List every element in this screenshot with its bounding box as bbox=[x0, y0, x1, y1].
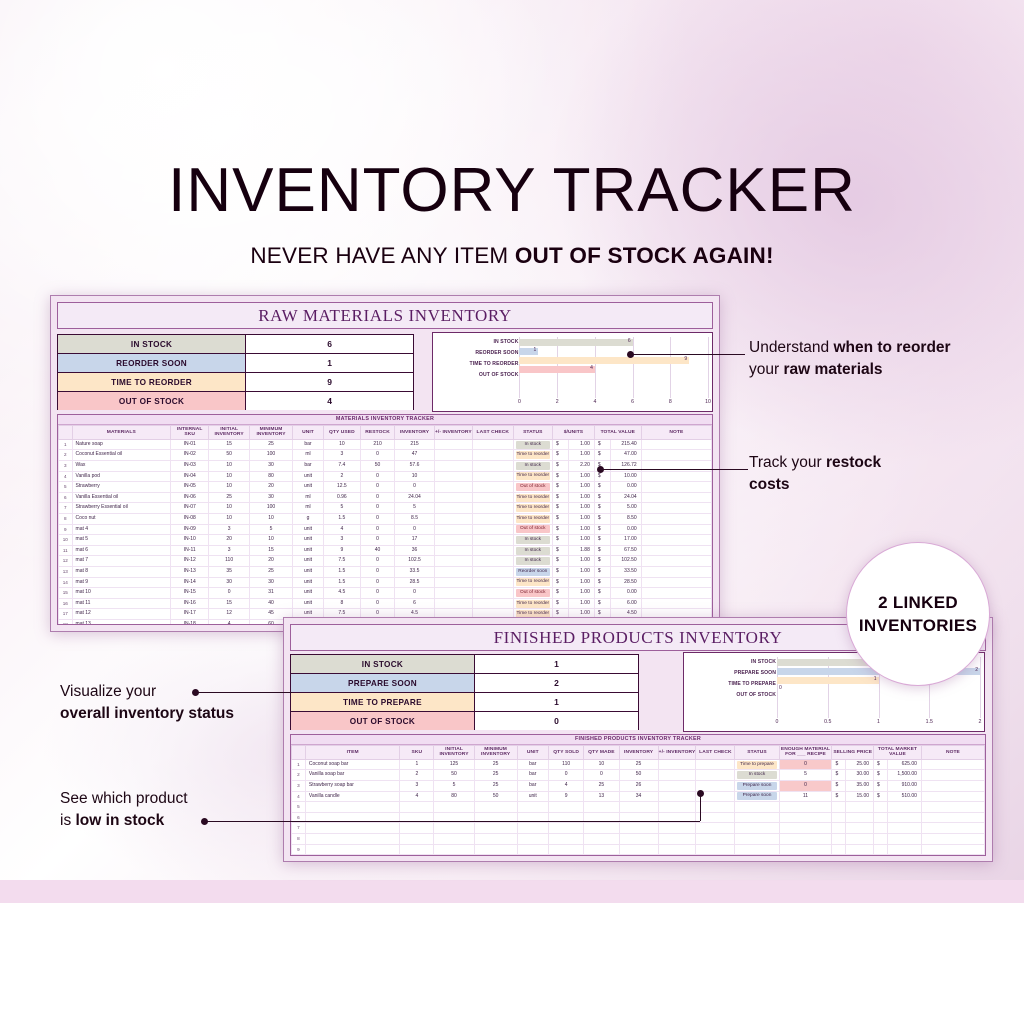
table-cell[interactable]: 25 bbox=[584, 781, 619, 792]
table-cell[interactable] bbox=[305, 833, 400, 844]
materials-table-body[interactable]: 1Nature soapIN-011525bar10210215In stock… bbox=[59, 439, 712, 625]
materials-table[interactable]: MATERIALSINTERNAL SKUINITIAL INVENTORYMI… bbox=[58, 425, 712, 625]
table-cell[interactable]: 15 bbox=[249, 545, 292, 556]
table-cell[interactable]: 10 bbox=[59, 535, 73, 546]
table-cell[interactable] bbox=[434, 588, 472, 599]
table-cell[interactable] bbox=[696, 770, 735, 781]
table-cell[interactable]: mat 6 bbox=[72, 545, 171, 556]
table-cell[interactable] bbox=[434, 566, 472, 577]
table-cell[interactable]: 1.00 bbox=[569, 471, 595, 482]
table-cell[interactable]: 15 bbox=[209, 439, 250, 450]
table-cell[interactable]: 1.5 bbox=[323, 566, 360, 577]
table-cell[interactable] bbox=[434, 471, 472, 482]
table-cell[interactable]: 3 bbox=[209, 524, 250, 535]
table-cell[interactable]: 9 bbox=[549, 791, 584, 802]
table-cell[interactable] bbox=[846, 823, 874, 834]
table-cell[interactable] bbox=[434, 482, 472, 493]
table-cell[interactable]: $ bbox=[553, 461, 569, 472]
table-cell[interactable]: IN-17 bbox=[171, 609, 209, 620]
table-cell[interactable]: $ bbox=[553, 535, 569, 546]
table-cell[interactable] bbox=[517, 823, 549, 834]
table-cell[interactable] bbox=[472, 566, 513, 577]
table-cell[interactable] bbox=[779, 844, 832, 855]
table-cell[interactable]: unit bbox=[293, 566, 324, 577]
table-cell[interactable]: 1.00 bbox=[569, 513, 595, 524]
table-cell[interactable] bbox=[779, 833, 832, 844]
table-cell[interactable]: IN-02 bbox=[171, 450, 209, 461]
table-cell[interactable] bbox=[641, 524, 711, 535]
table-cell[interactable]: ml bbox=[293, 503, 324, 514]
table-cell[interactable]: 0.00 bbox=[610, 524, 641, 535]
table-row[interactable]: 4Vanilla podIN-041080unit2010Time to reo… bbox=[59, 471, 712, 482]
table-cell[interactable] bbox=[921, 823, 984, 834]
status-badge[interactable]: Reorder soon bbox=[513, 566, 552, 577]
table-cell[interactable] bbox=[921, 770, 984, 781]
table-cell[interactable] bbox=[921, 781, 984, 792]
table-cell[interactable] bbox=[472, 598, 513, 609]
table-cell[interactable]: 12 bbox=[209, 609, 250, 620]
table-cell[interactable]: unit bbox=[517, 791, 549, 802]
table-cell[interactable]: $ bbox=[832, 770, 846, 781]
table-cell[interactable]: $ bbox=[553, 482, 569, 493]
table-cell[interactable]: 8 bbox=[323, 598, 360, 609]
table-cell[interactable]: 1.00 bbox=[569, 598, 595, 609]
table-cell[interactable] bbox=[472, 471, 513, 482]
table-cell[interactable]: IN-16 bbox=[171, 598, 209, 609]
table-cell[interactable]: Coco nut bbox=[72, 513, 171, 524]
status-badge[interactable]: Time to reorder bbox=[513, 492, 552, 503]
table-cell[interactable]: 10 bbox=[209, 471, 250, 482]
table-cell[interactable]: 0 bbox=[360, 492, 394, 503]
table-cell[interactable]: 0 bbox=[395, 482, 434, 493]
table-cell[interactable]: 12 bbox=[59, 556, 73, 567]
table-cell[interactable] bbox=[472, 577, 513, 588]
table-cell[interactable]: $ bbox=[832, 759, 846, 770]
table-row[interactable]: 6Vanilla Essential oilIN-062530ml0.96024… bbox=[59, 492, 712, 503]
table-cell[interactable]: bar bbox=[293, 461, 324, 472]
table-cell[interactable] bbox=[658, 791, 696, 802]
table-cell[interactable]: 17.00 bbox=[610, 535, 641, 546]
table-cell[interactable] bbox=[921, 802, 984, 813]
status-badge[interactable]: Time to reorder bbox=[513, 598, 552, 609]
table-cell[interactable]: 0 bbox=[395, 524, 434, 535]
table-cell[interactable]: 102.5 bbox=[395, 556, 434, 567]
table-cell[interactable] bbox=[517, 844, 549, 855]
table-cell[interactable]: bar bbox=[517, 781, 549, 792]
table-cell[interactable]: 33.50 bbox=[610, 566, 641, 577]
table-cell[interactable]: 125 bbox=[434, 759, 474, 770]
table-cell[interactable]: 0 bbox=[360, 588, 394, 599]
table-cell[interactable]: unit bbox=[293, 482, 324, 493]
table-cell[interactable]: $ bbox=[594, 471, 610, 482]
table-row[interactable]: 13mat 8IN-133525unit1.5033.5Reorder soon… bbox=[59, 566, 712, 577]
table-cell[interactable]: 17 bbox=[59, 609, 73, 620]
table-cell[interactable] bbox=[696, 759, 735, 770]
table-cell[interactable] bbox=[472, 450, 513, 461]
table-cell[interactable]: 1.00 bbox=[569, 524, 595, 535]
table-cell[interactable]: 20 bbox=[249, 556, 292, 567]
table-cell[interactable] bbox=[641, 482, 711, 493]
table-cell[interactable]: 50 bbox=[209, 450, 250, 461]
table-cell[interactable]: 7.4 bbox=[323, 461, 360, 472]
status-badge[interactable]: In stock bbox=[513, 439, 552, 450]
status-badge[interactable]: Time to reorder bbox=[513, 513, 552, 524]
table-cell[interactable]: 5 bbox=[434, 781, 474, 792]
table-cell[interactable] bbox=[921, 812, 984, 823]
table-cell[interactable] bbox=[921, 759, 984, 770]
table-cell[interactable] bbox=[434, 492, 472, 503]
table-cell[interactable]: IN-07 bbox=[171, 503, 209, 514]
table-cell[interactable]: 910.00 bbox=[887, 781, 921, 792]
table-cell[interactable] bbox=[434, 577, 472, 588]
table-cell[interactable]: 0 bbox=[549, 770, 584, 781]
table-cell[interactable]: 10 bbox=[209, 503, 250, 514]
table-cell[interactable]: $ bbox=[553, 503, 569, 514]
table-cell[interactable] bbox=[584, 802, 619, 813]
table-cell[interactable] bbox=[832, 823, 846, 834]
table-cell[interactable] bbox=[779, 812, 832, 823]
table-cell[interactable]: mat 10 bbox=[72, 588, 171, 599]
table-row[interactable]: 8Coco nutIN-081010g1.508.5Time to reorde… bbox=[59, 513, 712, 524]
table-cell[interactable]: 20 bbox=[249, 482, 292, 493]
status-badge[interactable]: Time to reorder bbox=[513, 503, 552, 514]
table-cell[interactable]: mat 11 bbox=[72, 598, 171, 609]
table-cell[interactable]: $ bbox=[553, 439, 569, 450]
table-cell[interactable]: 100 bbox=[249, 503, 292, 514]
table-cell[interactable]: 10 bbox=[209, 513, 250, 524]
table-cell[interactable] bbox=[874, 833, 888, 844]
table-cell[interactable] bbox=[779, 823, 832, 834]
table-cell[interactable] bbox=[434, 802, 474, 813]
status-badge[interactable] bbox=[735, 802, 779, 813]
table-row[interactable]: 16mat 11IN-161540unit806Time to reorder$… bbox=[59, 598, 712, 609]
table-cell[interactable]: 1.00 bbox=[569, 556, 595, 567]
table-cell[interactable]: $ bbox=[832, 781, 846, 792]
table-cell[interactable] bbox=[641, 556, 711, 567]
table-cell[interactable]: 25 bbox=[209, 492, 250, 503]
table-cell[interactable]: 0.00 bbox=[610, 588, 641, 599]
table-cell[interactable] bbox=[305, 823, 400, 834]
table-row[interactable]: 14mat 9IN-143030unit1.5028.5Time to reor… bbox=[59, 577, 712, 588]
table-cell[interactable]: 1 bbox=[400, 759, 434, 770]
table-cell[interactable] bbox=[305, 844, 400, 855]
table-cell[interactable] bbox=[921, 791, 984, 802]
table-cell[interactable]: unit bbox=[293, 471, 324, 482]
table-cell[interactable]: 4 bbox=[400, 791, 434, 802]
table-cell[interactable]: 1.5 bbox=[323, 577, 360, 588]
table-cell[interactable]: $ bbox=[594, 588, 610, 599]
table-cell[interactable]: $ bbox=[874, 781, 888, 792]
table-cell[interactable] bbox=[846, 833, 874, 844]
table-cell[interactable] bbox=[696, 833, 735, 844]
table-cell[interactable] bbox=[472, 461, 513, 472]
table-cell[interactable]: 13 bbox=[59, 566, 73, 577]
table-cell[interactable]: 26 bbox=[619, 781, 658, 792]
table-cell[interactable]: 10 bbox=[395, 471, 434, 482]
table-cell[interactable] bbox=[641, 545, 711, 556]
table-cell[interactable]: Strawberry soap bar bbox=[305, 781, 400, 792]
table-cell[interactable]: 28.5 bbox=[395, 577, 434, 588]
table-cell[interactable]: 1.00 bbox=[569, 535, 595, 546]
table-cell[interactable]: 5 bbox=[249, 524, 292, 535]
table-cell[interactable] bbox=[832, 802, 846, 813]
table-cell[interactable]: Strawberry bbox=[72, 482, 171, 493]
table-cell[interactable]: 57.6 bbox=[395, 461, 434, 472]
table-cell[interactable]: $ bbox=[594, 577, 610, 588]
table-cell[interactable]: 4 bbox=[549, 781, 584, 792]
table-cell[interactable]: $ bbox=[553, 566, 569, 577]
status-badge[interactable]: Out of stock bbox=[513, 482, 552, 493]
table-cell[interactable]: IN-05 bbox=[171, 482, 209, 493]
table-cell[interactable]: 5 bbox=[323, 503, 360, 514]
table-cell[interactable]: mat 9 bbox=[72, 577, 171, 588]
table-cell[interactable]: 33.5 bbox=[395, 566, 434, 577]
table-cell[interactable]: 15 bbox=[209, 598, 250, 609]
table-cell[interactable] bbox=[887, 833, 921, 844]
table-cell[interactable]: 3 bbox=[400, 781, 434, 792]
table-cell[interactable]: 7.5 bbox=[323, 556, 360, 567]
table-cell[interactable]: $ bbox=[553, 556, 569, 567]
table-cell[interactable] bbox=[619, 844, 658, 855]
table-cell[interactable]: 9 bbox=[292, 844, 306, 855]
table-cell[interactable] bbox=[846, 812, 874, 823]
table-cell[interactable]: 1.00 bbox=[569, 577, 595, 588]
table-cell[interactable]: 0 bbox=[360, 482, 394, 493]
table-cell[interactable]: 6.00 bbox=[610, 598, 641, 609]
table-cell[interactable] bbox=[434, 833, 474, 844]
table-cell[interactable]: 0 bbox=[209, 588, 250, 599]
table-cell[interactable]: 30.00 bbox=[846, 770, 874, 781]
table-cell[interactable] bbox=[619, 823, 658, 834]
table-cell[interactable]: 18 bbox=[59, 619, 73, 625]
table-cell[interactable]: mat 5 bbox=[72, 535, 171, 546]
table-cell[interactable] bbox=[474, 802, 517, 813]
table-cell[interactable] bbox=[696, 812, 735, 823]
table-cell[interactable]: 2.20 bbox=[569, 461, 595, 472]
table-cell[interactable]: 1.88 bbox=[569, 545, 595, 556]
table-cell[interactable]: 80 bbox=[434, 791, 474, 802]
table-cell[interactable] bbox=[619, 802, 658, 813]
table-cell[interactable]: 13 bbox=[584, 791, 619, 802]
table-cell[interactable] bbox=[921, 844, 984, 855]
table-cell[interactable] bbox=[658, 759, 696, 770]
table-cell[interactable]: 0 bbox=[360, 524, 394, 535]
table-cell[interactable]: Vanilla Essential oil bbox=[72, 492, 171, 503]
table-cell[interactable]: 8.5 bbox=[395, 513, 434, 524]
table-cell[interactable] bbox=[874, 823, 888, 834]
table-cell[interactable]: 4 bbox=[209, 619, 250, 625]
status-badge[interactable]: In stock bbox=[513, 556, 552, 567]
status-badge[interactable]: In stock bbox=[513, 545, 552, 556]
table-row[interactable]: 4Vanilla candle48050unit91334Prepare soo… bbox=[292, 791, 985, 802]
table-cell[interactable] bbox=[846, 844, 874, 855]
table-cell[interactable]: unit bbox=[293, 556, 324, 567]
table-cell[interactable] bbox=[696, 823, 735, 834]
table-cell[interactable]: 3 bbox=[323, 535, 360, 546]
table-cell[interactable] bbox=[641, 503, 711, 514]
finished-products-table[interactable]: ITEMSKUINITIAL INVENTORYMINIMUM INVENTOR… bbox=[291, 745, 985, 855]
table-cell[interactable]: $ bbox=[594, 598, 610, 609]
table-cell[interactable]: 11 bbox=[779, 791, 832, 802]
table-cell[interactable]: 2 bbox=[292, 770, 306, 781]
table-cell[interactable] bbox=[887, 812, 921, 823]
table-cell[interactable] bbox=[474, 844, 517, 855]
table-cell[interactable]: IN-08 bbox=[171, 513, 209, 524]
table-cell[interactable]: 3 bbox=[59, 461, 73, 472]
table-cell[interactable]: IN-11 bbox=[171, 545, 209, 556]
table-cell[interactable] bbox=[641, 577, 711, 588]
table-cell[interactable] bbox=[874, 802, 888, 813]
table-cell[interactable] bbox=[832, 833, 846, 844]
status-badge[interactable]: Prepare soon bbox=[735, 791, 779, 802]
table-cell[interactable] bbox=[472, 482, 513, 493]
table-cell[interactable]: 0 bbox=[779, 781, 832, 792]
table-cell[interactable]: 0 bbox=[360, 450, 394, 461]
table-cell[interactable]: 110 bbox=[209, 556, 250, 567]
table-cell[interactable] bbox=[641, 598, 711, 609]
table-cell[interactable]: 2 bbox=[400, 770, 434, 781]
table-cell[interactable]: 3 bbox=[323, 450, 360, 461]
status-badge[interactable]: Time to prepare bbox=[735, 759, 779, 770]
table-cell[interactable]: g bbox=[293, 513, 324, 524]
table-cell[interactable]: 10 bbox=[249, 535, 292, 546]
table-cell[interactable] bbox=[641, 492, 711, 503]
table-row[interactable]: 2Coconut Essential oilIN-0250100ml3047Ti… bbox=[59, 450, 712, 461]
table-cell[interactable] bbox=[434, 545, 472, 556]
table-cell[interactable]: 4 bbox=[292, 791, 306, 802]
table-cell[interactable] bbox=[641, 535, 711, 546]
status-badge[interactable] bbox=[735, 823, 779, 834]
table-row[interactable]: 5StrawberryIN-051020unit12.500Out of sto… bbox=[59, 482, 712, 493]
table-cell[interactable]: 40 bbox=[360, 545, 394, 556]
table-cell[interactable]: $ bbox=[553, 598, 569, 609]
table-cell[interactable]: $ bbox=[832, 791, 846, 802]
status-badge[interactable]: In stock bbox=[513, 461, 552, 472]
table-cell[interactable]: 0 bbox=[360, 598, 394, 609]
status-badge[interactable] bbox=[735, 812, 779, 823]
table-cell[interactable]: $ bbox=[594, 566, 610, 577]
table-cell[interactable] bbox=[887, 823, 921, 834]
table-cell[interactable]: 67.50 bbox=[610, 545, 641, 556]
table-cell[interactable]: 15.00 bbox=[846, 791, 874, 802]
table-cell[interactable]: 50 bbox=[474, 791, 517, 802]
table-cell[interactable]: 5 bbox=[395, 503, 434, 514]
table-cell[interactable]: 0 bbox=[395, 588, 434, 599]
table-cell[interactable]: 0 bbox=[779, 759, 832, 770]
table-cell[interactable] bbox=[400, 823, 434, 834]
table-cell[interactable] bbox=[549, 833, 584, 844]
table-cell[interactable]: 25 bbox=[474, 759, 517, 770]
table-cell[interactable] bbox=[696, 802, 735, 813]
status-badge[interactable] bbox=[735, 833, 779, 844]
table-cell[interactable] bbox=[641, 588, 711, 599]
table-cell[interactable]: $ bbox=[594, 556, 610, 567]
table-cell[interactable]: 1 bbox=[292, 759, 306, 770]
table-cell[interactable]: 1.00 bbox=[569, 503, 595, 514]
table-cell[interactable]: $ bbox=[874, 759, 888, 770]
table-cell[interactable] bbox=[434, 513, 472, 524]
table-cell[interactable]: unit bbox=[293, 545, 324, 556]
table-cell[interactable]: IN-01 bbox=[171, 439, 209, 450]
table-cell[interactable]: ml bbox=[293, 450, 324, 461]
table-cell[interactable]: 47 bbox=[395, 450, 434, 461]
table-cell[interactable] bbox=[641, 513, 711, 524]
table-cell[interactable] bbox=[434, 524, 472, 535]
table-row[interactable]: 1Coconut soap bar112525bar1101025Time to… bbox=[292, 759, 985, 770]
table-cell[interactable] bbox=[434, 844, 474, 855]
table-cell[interactable]: 30 bbox=[249, 492, 292, 503]
table-cell[interactable] bbox=[434, 535, 472, 546]
table-cell[interactable]: 625.00 bbox=[887, 759, 921, 770]
table-cell[interactable] bbox=[472, 545, 513, 556]
table-cell[interactable]: 25 bbox=[474, 770, 517, 781]
table-row[interactable]: 11mat 6IN-11315unit94036In stock$1.88$67… bbox=[59, 545, 712, 556]
table-cell[interactable]: 35.00 bbox=[846, 781, 874, 792]
table-cell[interactable]: mat 4 bbox=[72, 524, 171, 535]
table-cell[interactable]: 6 bbox=[395, 598, 434, 609]
table-cell[interactable]: unit bbox=[293, 598, 324, 609]
table-cell[interactable] bbox=[549, 802, 584, 813]
table-cell[interactable]: 24.04 bbox=[395, 492, 434, 503]
table-cell[interactable]: unit bbox=[293, 577, 324, 588]
table-cell[interactable]: 25 bbox=[249, 439, 292, 450]
table-cell[interactable]: 12.5 bbox=[323, 482, 360, 493]
table-cell[interactable]: 100 bbox=[249, 450, 292, 461]
table-cell[interactable]: 215 bbox=[395, 439, 434, 450]
table-cell[interactable] bbox=[434, 439, 472, 450]
table-cell[interactable]: IN-13 bbox=[171, 566, 209, 577]
table-cell[interactable] bbox=[434, 598, 472, 609]
table-cell[interactable] bbox=[658, 844, 696, 855]
table-cell[interactable]: $ bbox=[594, 503, 610, 514]
table-cell[interactable]: 8.50 bbox=[610, 513, 641, 524]
table-cell[interactable]: 0 bbox=[360, 471, 394, 482]
table-cell[interactable]: 10.00 bbox=[610, 471, 641, 482]
table-cell[interactable]: 80 bbox=[249, 471, 292, 482]
table-cell[interactable]: 1,500.00 bbox=[887, 770, 921, 781]
table-cell[interactable]: $ bbox=[553, 492, 569, 503]
table-row[interactable]: 8 bbox=[292, 833, 985, 844]
table-cell[interactable]: 210 bbox=[360, 439, 394, 450]
table-cell[interactable]: 0 bbox=[360, 503, 394, 514]
table-cell[interactable] bbox=[658, 833, 696, 844]
table-cell[interactable] bbox=[549, 823, 584, 834]
table-cell[interactable]: 9 bbox=[59, 524, 73, 535]
table-cell[interactable] bbox=[921, 833, 984, 844]
status-badge[interactable]: Time to reorder bbox=[513, 450, 552, 461]
table-cell[interactable]: 31 bbox=[249, 588, 292, 599]
table-cell[interactable]: 16 bbox=[59, 598, 73, 609]
table-cell[interactable]: 50 bbox=[619, 770, 658, 781]
table-cell[interactable]: unit bbox=[293, 588, 324, 599]
table-cell[interactable] bbox=[779, 802, 832, 813]
table-cell[interactable]: Strawberry Essential oil bbox=[72, 503, 171, 514]
table-cell[interactable]: 47.00 bbox=[610, 450, 641, 461]
table-cell[interactable]: mat 8 bbox=[72, 566, 171, 577]
table-cell[interactable] bbox=[696, 844, 735, 855]
table-cell[interactable]: 0 bbox=[360, 556, 394, 567]
table-cell[interactable]: 0.00 bbox=[610, 482, 641, 493]
table-cell[interactable] bbox=[434, 556, 472, 567]
table-cell[interactable]: IN-15 bbox=[171, 588, 209, 599]
table-cell[interactable]: 34 bbox=[619, 791, 658, 802]
table-cell[interactable] bbox=[400, 833, 434, 844]
table-cell[interactable]: $ bbox=[874, 791, 888, 802]
table-row[interactable]: 12mat 7IN-1211020unit7.50102.5In stock$1… bbox=[59, 556, 712, 567]
table-cell[interactable]: Coconut Essential oil bbox=[72, 450, 171, 461]
table-cell[interactable]: 1.5 bbox=[323, 513, 360, 524]
table-cell[interactable]: 5.00 bbox=[610, 503, 641, 514]
